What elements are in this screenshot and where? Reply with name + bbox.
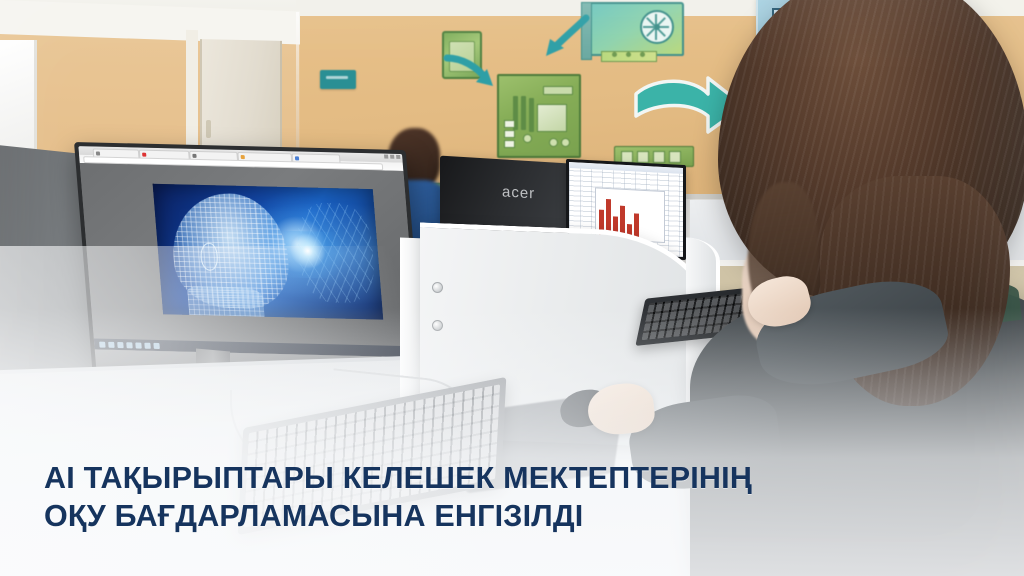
headline-line-1: AI ТАҚЫРЫПТАРЫ КЕЛЕШЕК МЕКТЕПТЕРІНІҢ xyxy=(44,461,752,495)
plaque-text-line xyxy=(326,76,348,79)
arrow-small-left-icon xyxy=(443,52,505,94)
motherboard-capacitor xyxy=(549,138,558,147)
headline: AI ТАҚЫРЫПТАРЫ КЕЛЕШЕК МЕКТЕПТЕРІНІҢ ОҚУ… xyxy=(44,460,904,536)
motherboard-socket xyxy=(537,104,567,132)
motherboard-capacitor xyxy=(523,134,532,143)
arrow-small-right-icon xyxy=(534,14,596,64)
motherboard-chipset xyxy=(543,86,573,95)
divider-bolt xyxy=(432,282,443,293)
motherboard-port xyxy=(504,140,515,148)
graphics-card-decal xyxy=(585,2,684,56)
acer-logo-rear: acer xyxy=(502,183,535,202)
monitor-screen xyxy=(80,163,419,357)
motherboard-slot xyxy=(529,98,534,132)
divider-bolt xyxy=(432,320,443,331)
start-icon[interactable] xyxy=(99,341,106,347)
wireframe-ear xyxy=(200,243,219,271)
headline-line-2: ОҚУ БАҒДАРЛАМАСЫНА ЕНГІЗІЛДІ xyxy=(44,498,904,536)
folder-icon[interactable] xyxy=(108,341,115,347)
app-icon[interactable] xyxy=(126,342,133,348)
motherboard-port xyxy=(504,120,515,128)
light-burst xyxy=(284,231,363,280)
app-icon[interactable] xyxy=(153,342,160,348)
app-icon[interactable] xyxy=(144,342,151,348)
teal-wall-plaque xyxy=(320,70,356,89)
motherboard-port xyxy=(504,130,515,138)
ai-wireframe-head-image xyxy=(152,183,383,319)
foreground-monitor: acer xyxy=(74,142,424,379)
browser-icon[interactable] xyxy=(117,342,124,348)
gpu-connector-pins xyxy=(601,51,657,62)
gpu-fan-icon xyxy=(640,10,674,44)
app-icon[interactable] xyxy=(135,342,142,348)
motherboard-decal xyxy=(497,74,581,158)
window-controls[interactable] xyxy=(384,155,400,159)
news-photo-card: acer xyxy=(0,0,1024,576)
left-window xyxy=(0,40,37,158)
monitor-bezel xyxy=(78,146,418,357)
motherboard-slot xyxy=(521,96,526,130)
wireframe-neck xyxy=(187,286,265,319)
door-handle xyxy=(206,120,211,138)
motherboard-capacitor xyxy=(561,138,570,147)
